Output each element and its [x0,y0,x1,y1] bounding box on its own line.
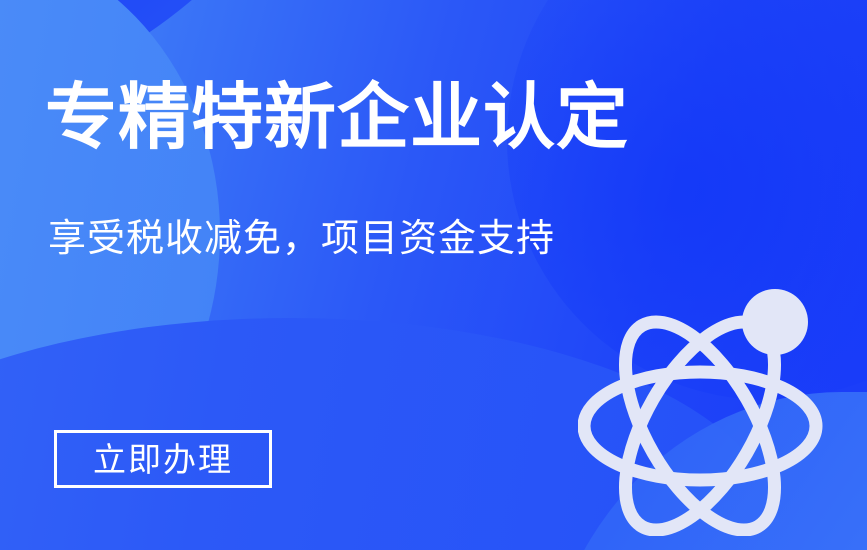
page-title: 专精特新企业认定 [45,82,629,154]
atom-orbit-horizontal [584,372,816,480]
banner-content: 专精特新企业认定 享受税收减免，项目资金支持 立即办理 [0,0,867,550]
apply-now-button[interactable]: 立即办理 [54,430,272,488]
banner-subtitle: 享受税收减免，项目资金支持 [48,218,555,262]
promo-banner: 专精特新企业认定 享受税收减免，项目资金支持 立即办理 [0,0,867,550]
atom-electron [742,289,808,355]
atom-icon [578,286,834,536]
